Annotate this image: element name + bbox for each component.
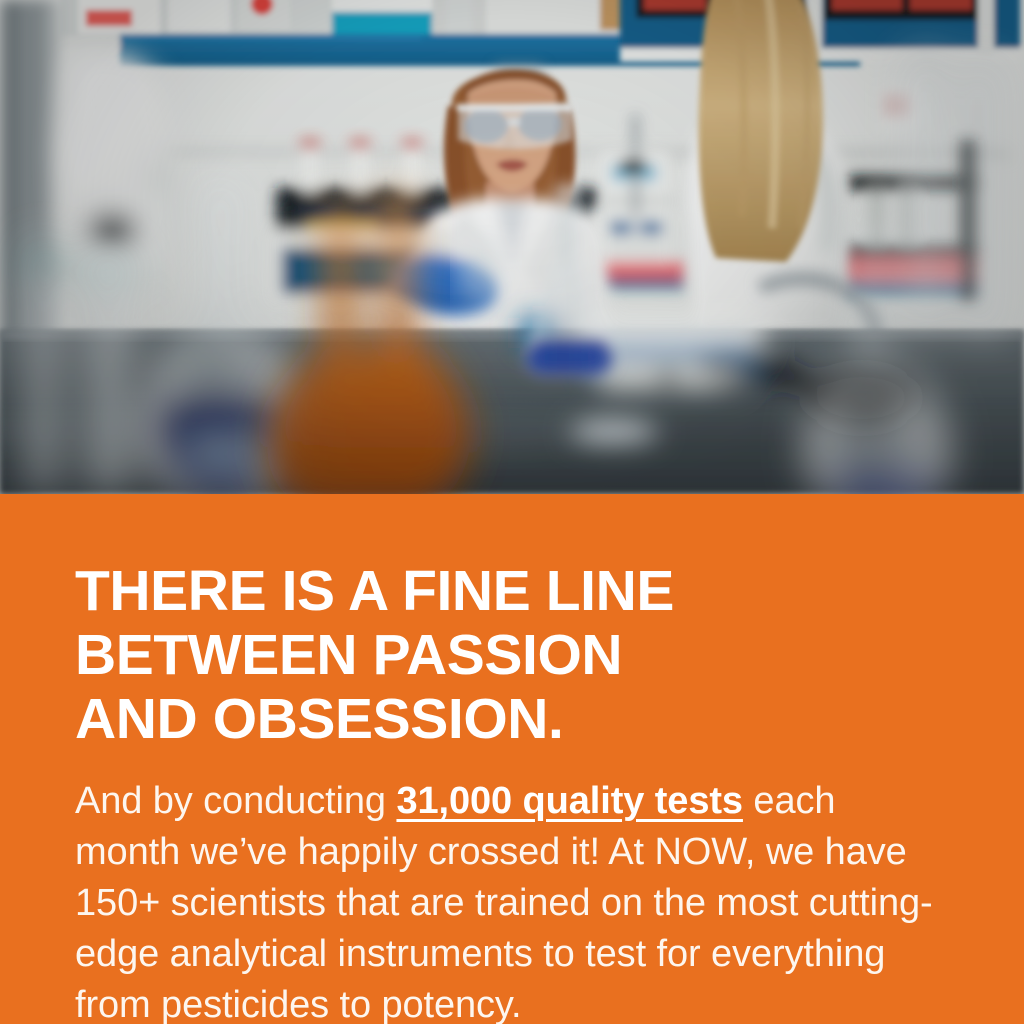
quality-tests-highlight: 31,000 quality tests (396, 780, 743, 822)
body-copy: And by conducting 31,000 quality tests e… (75, 776, 940, 1024)
body-copy-lead: And by conducting (75, 780, 396, 822)
page-title: THERE IS A FINE LINE BETWEEN PASSION AND… (75, 559, 955, 751)
poster-canvas: 500 (0, 0, 1024, 1024)
laboratory-photo-illustration: 500 (0, 0, 1024, 494)
laboratory-photo: 500 (0, 0, 1024, 494)
